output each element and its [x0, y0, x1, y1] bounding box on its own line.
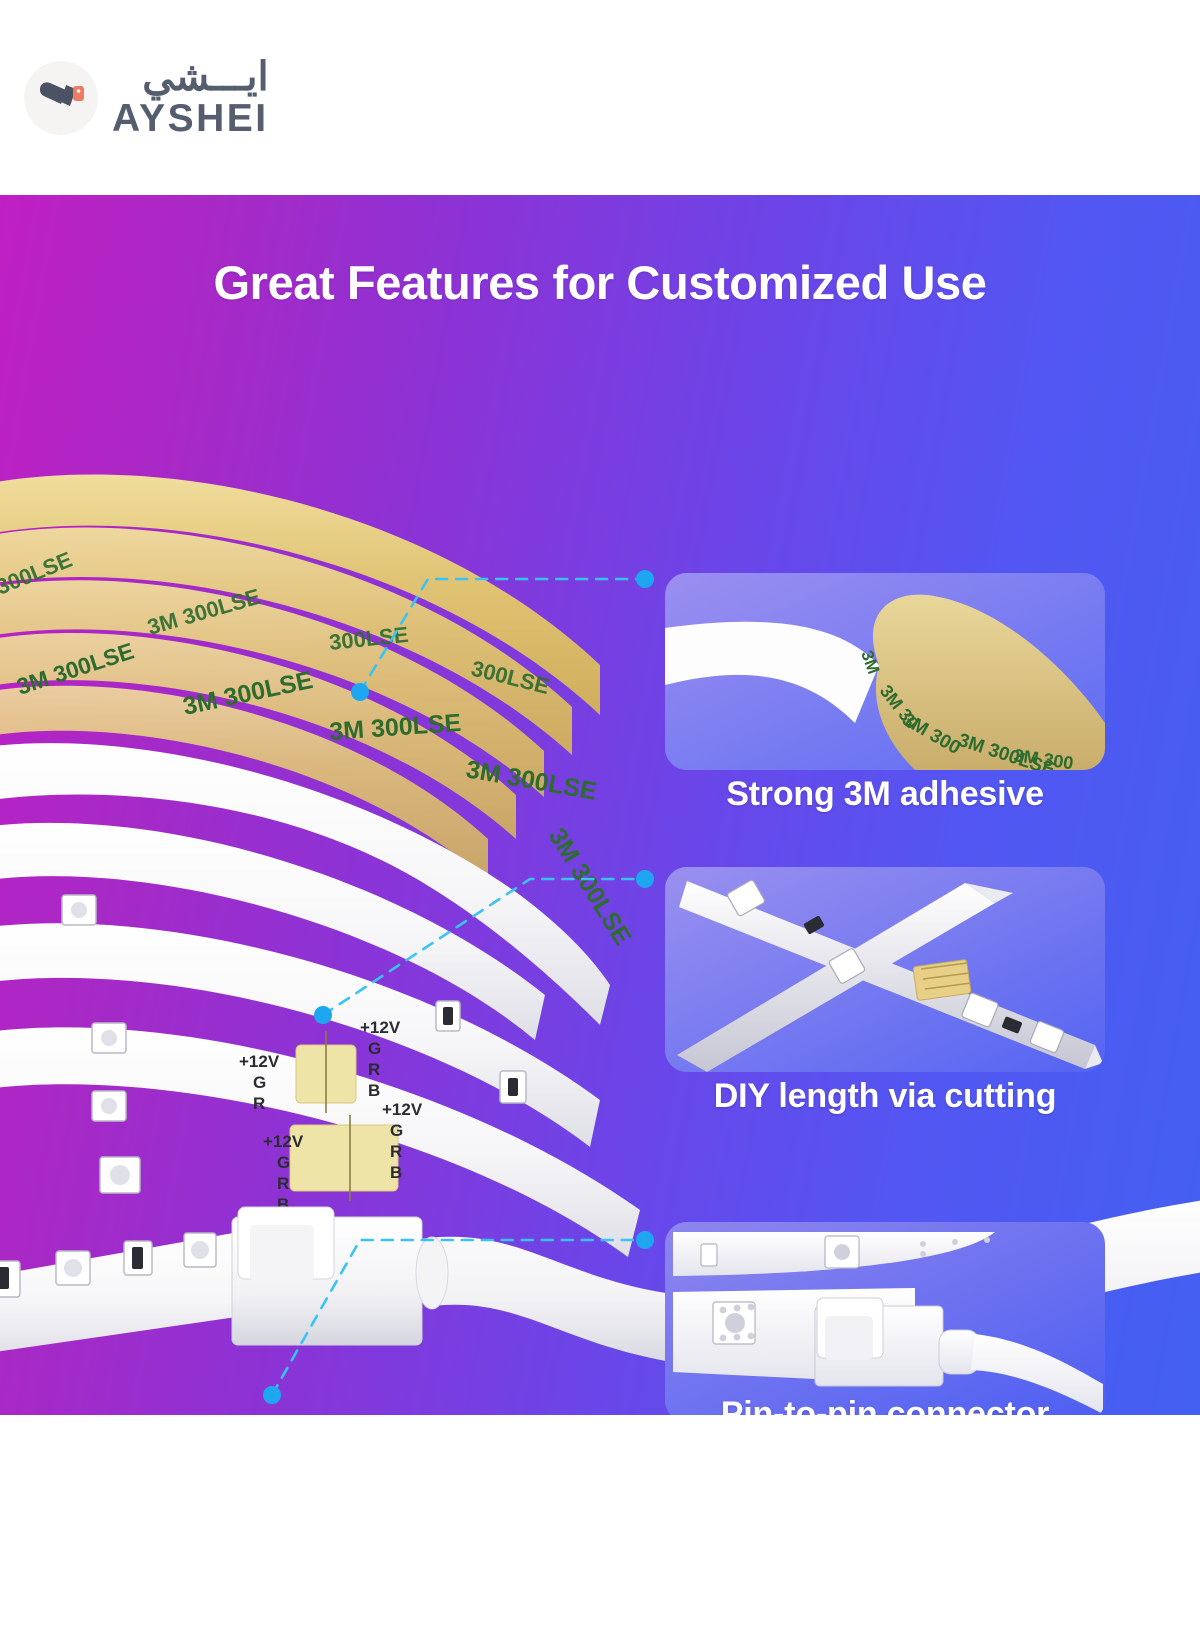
brand-wordmark: ايـــشي AYSHEI	[112, 57, 269, 138]
feature-card-adhesive[interactable]: 3M 3M 30 3M 300 3M 300LSE 3M 300	[665, 573, 1105, 770]
brand-header: ايـــشي AYSHEI	[0, 0, 1200, 195]
svg-text:+12V: +12V	[360, 1018, 401, 1037]
product-feature-page: ايـــشي AYSHEI Great Features for Custom…	[0, 0, 1200, 1636]
svg-text:G: G	[277, 1153, 290, 1172]
hero-panel: Great Features for Customized Use	[0, 195, 1200, 1415]
brand-arabic-name: ايـــشي	[112, 57, 269, 97]
svg-text:R: R	[253, 1094, 265, 1113]
brand-latin-name: AYSHEI	[112, 99, 269, 138]
pin-to-pin-connector-photo	[665, 1222, 1105, 1415]
svg-text:R: R	[368, 1060, 380, 1079]
svg-text:300LSE: 300LSE	[328, 622, 410, 655]
feature-caption-adhesive: Strong 3M adhesive	[665, 775, 1105, 814]
svg-text:R: R	[277, 1174, 289, 1193]
svg-text:+12V: +12V	[239, 1052, 280, 1071]
svg-text:R: R	[390, 1142, 402, 1161]
adhesive-backing-photo: 3M 3M 30 3M 300 3M 300LSE 3M 300	[665, 573, 1105, 770]
ayshei-logo-mark-icon	[24, 61, 98, 135]
svg-text:+12V: +12V	[382, 1100, 423, 1119]
svg-text:G: G	[390, 1121, 403, 1140]
svg-text:B: B	[390, 1163, 402, 1182]
feature-caption-connector: Pin-to-pin connector	[665, 1395, 1105, 1415]
svg-text:G: G	[253, 1073, 266, 1092]
svg-text:+12V: +12V	[263, 1132, 304, 1151]
svg-text:G: G	[368, 1039, 381, 1058]
feature-caption-cutting: DIY length via cutting	[665, 1077, 1105, 1116]
feature-card-cutting[interactable]	[665, 867, 1105, 1072]
svg-text:B: B	[368, 1081, 380, 1100]
footer-white-band	[0, 1415, 1200, 1636]
scissors-cutting-strip-photo	[665, 867, 1105, 1072]
feature-card-connector[interactable]	[665, 1222, 1105, 1415]
